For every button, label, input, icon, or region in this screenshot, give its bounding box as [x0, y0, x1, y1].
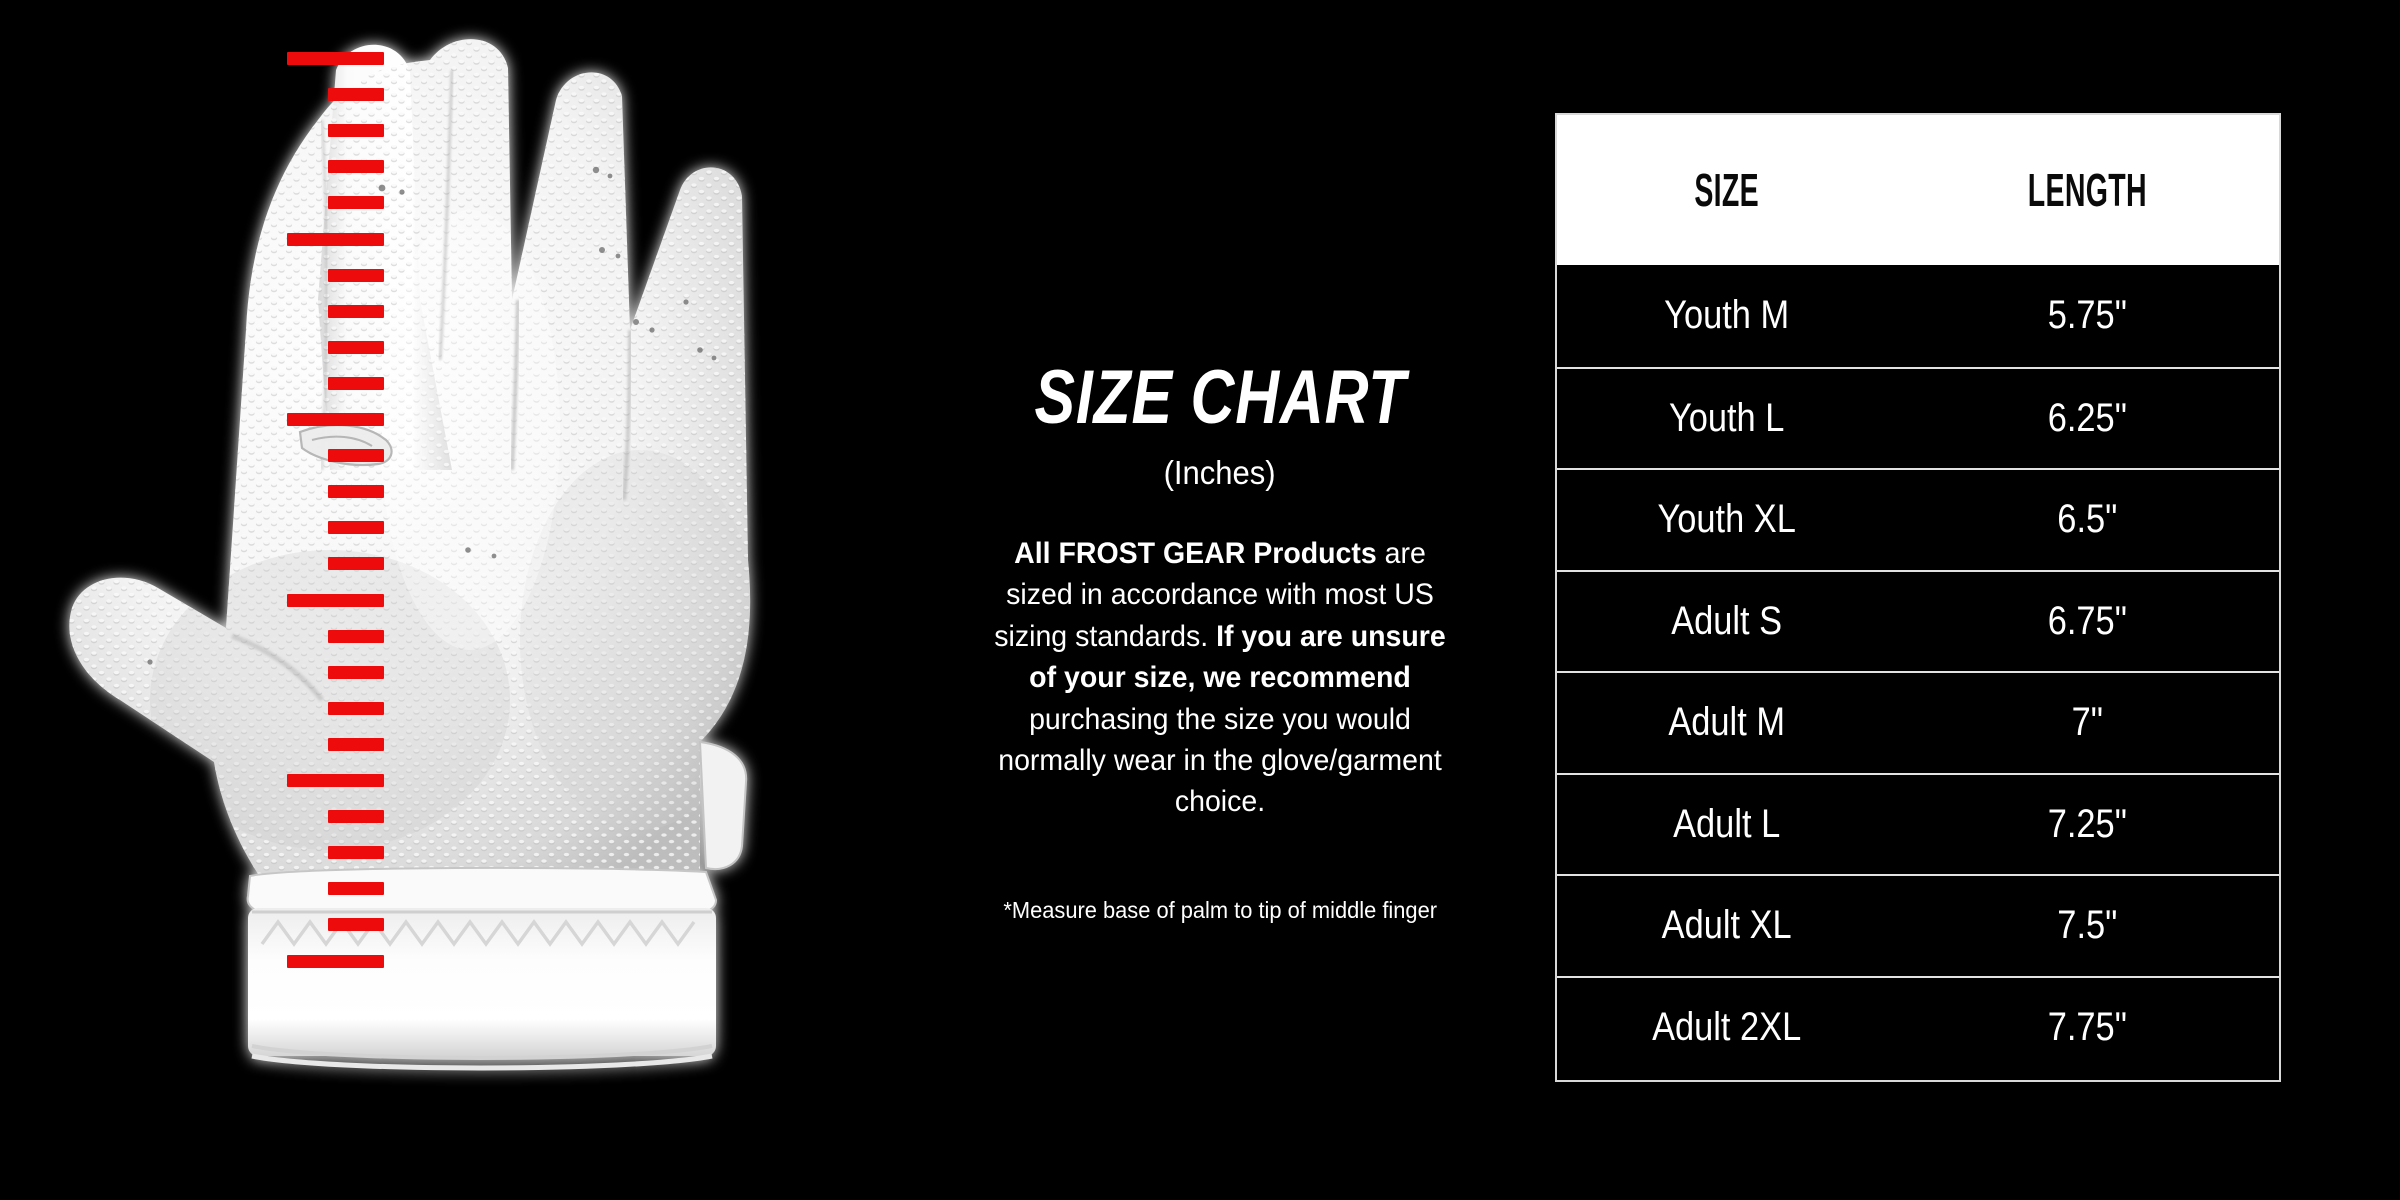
cell-length: 7.75" [1923, 1005, 2252, 1050]
cell-size: Adult M [1581, 700, 1873, 745]
table-row: Youth XL6.5" [1557, 468, 2279, 570]
page-title: SIZE CHART [1034, 360, 1406, 436]
table-row: Adult M7" [1557, 671, 2279, 773]
cell-size: Youth M [1581, 293, 1873, 338]
description-bold-1: All FROST GEAR Products [1014, 537, 1377, 570]
table-header-row: SIZE LENGTH [1557, 115, 2279, 265]
table-row: Youth L6.25" [1557, 367, 2279, 469]
cell-length: 6.25" [1923, 396, 2252, 441]
description-text-4: purchasing the size you would normally w… [998, 703, 1442, 819]
table-row: Adult XL7.5" [1557, 874, 2279, 976]
column-header-size: SIZE [1621, 163, 1831, 217]
cell-size: Adult S [1581, 599, 1873, 644]
cell-size: Youth L [1581, 396, 1873, 441]
description-paragraph: All FROST GEAR Products are sized in acc… [983, 533, 1458, 823]
cell-size: Adult XL [1581, 903, 1873, 948]
table-row: Adult 2XL7.75" [1557, 976, 2279, 1078]
text-panel: SIZE CHART (Inches) All FROST GEAR Produ… [880, 0, 1560, 1200]
size-chart-table: SIZE LENGTH Youth M5.75"Youth L6.25"Yout… [1555, 113, 2281, 1082]
table-row: Adult S6.75" [1557, 570, 2279, 672]
cell-length: 7.5" [1923, 903, 2252, 948]
glove-image [0, 0, 880, 1200]
page-subtitle: (Inches) [1164, 456, 1276, 489]
cell-length: 7.25" [1923, 802, 2252, 847]
measurement-footnote: *Measure base of palm to tip of middle f… [1003, 897, 1437, 924]
cell-length: 6.75" [1923, 599, 2252, 644]
table-row: Adult L7.25" [1557, 773, 2279, 875]
cell-length: 7" [1923, 700, 2252, 745]
table-row: Youth M5.75" [1557, 265, 2279, 367]
cell-size: Adult L [1581, 802, 1873, 847]
table-body: Youth M5.75"Youth L6.25"Youth XL6.5"Adul… [1557, 265, 2279, 1077]
column-header-length: LENGTH [1969, 163, 2206, 217]
cell-size: Youth XL [1581, 497, 1873, 542]
cell-size: Adult 2XL [1581, 1005, 1873, 1050]
cell-length: 6.5" [1923, 497, 2252, 542]
cell-length: 5.75" [1923, 293, 2252, 338]
glove-illustration-panel [0, 0, 880, 1200]
